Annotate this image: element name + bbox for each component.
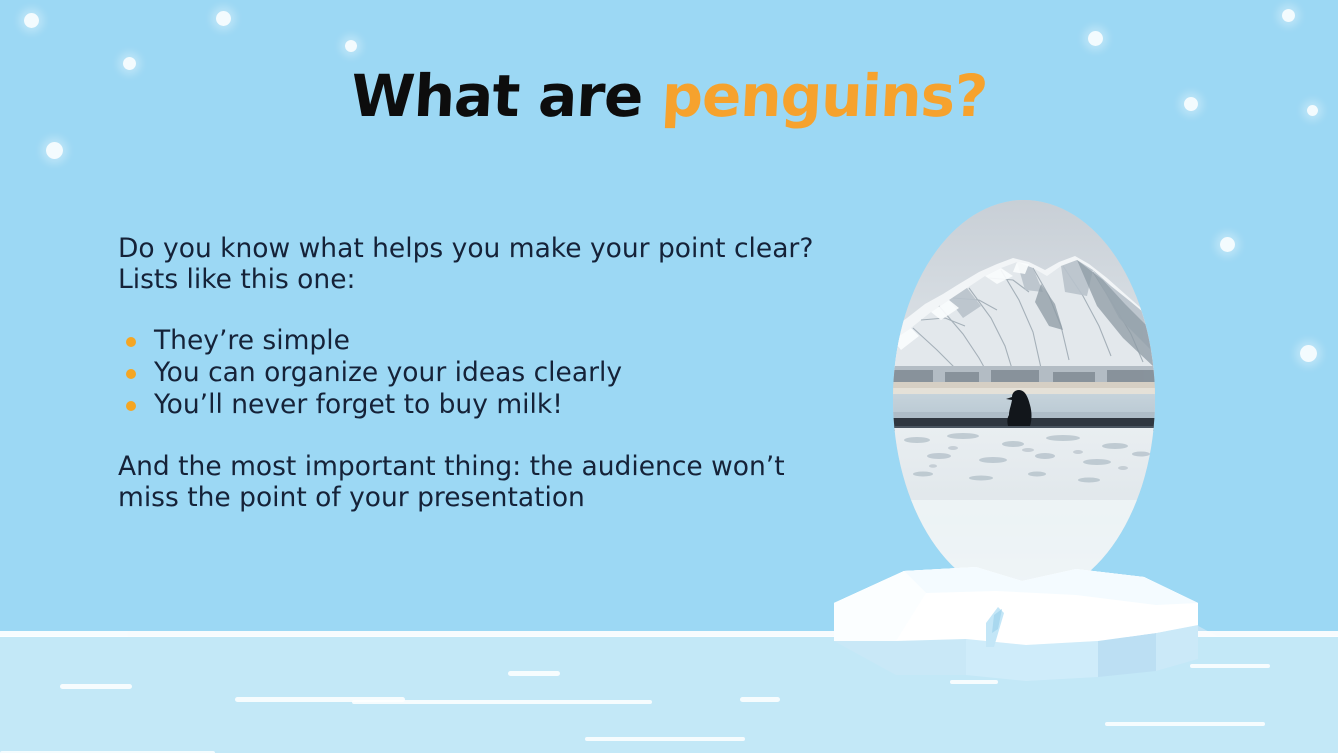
list-item: They’re simple bbox=[118, 325, 818, 356]
presentation-slide: What are penguins? Do you know what help… bbox=[0, 0, 1338, 753]
bullet-dot-icon bbox=[126, 337, 136, 347]
title-text-primary: What are bbox=[349, 62, 663, 130]
snow-dot-icon bbox=[1088, 31, 1103, 46]
penguin-photo-illustration bbox=[893, 200, 1155, 598]
spacer bbox=[118, 421, 818, 451]
list-item: You’ll never forget to buy milk! bbox=[118, 389, 818, 420]
ripple-line bbox=[352, 700, 652, 704]
ripple-line bbox=[740, 697, 780, 702]
spacer bbox=[118, 295, 818, 325]
benefit-bullet-list: They’re simple You can organize your ide… bbox=[118, 325, 818, 420]
snow-dot-icon bbox=[24, 13, 39, 28]
iceberg-waterline-illustration bbox=[826, 555, 1226, 685]
intro-line-2: Lists like this one: bbox=[118, 264, 818, 295]
slide-title: What are penguins? bbox=[0, 62, 1338, 130]
snow-dot-icon bbox=[1300, 345, 1317, 362]
bullet-dot-icon bbox=[126, 401, 136, 411]
closing-line-1: And the most important thing: the audien… bbox=[118, 451, 818, 482]
list-item-label: You can organize your ideas clearly bbox=[154, 357, 622, 388]
list-item-label: They’re simple bbox=[154, 325, 350, 356]
bullet-dot-icon bbox=[126, 369, 136, 379]
ripple-line bbox=[585, 737, 745, 741]
ripple-line bbox=[60, 684, 132, 689]
snow-dot-icon bbox=[1220, 237, 1235, 252]
list-item-label: You’ll never forget to buy milk! bbox=[154, 389, 563, 420]
ripple-line bbox=[1105, 722, 1265, 726]
list-item: You can organize your ideas clearly bbox=[118, 357, 818, 388]
penguin-photo-oval bbox=[893, 200, 1155, 598]
intro-line-1: Do you know what helps you make your poi… bbox=[118, 233, 818, 264]
closing-line-2: miss the point of your presentation bbox=[118, 482, 818, 513]
snow-dot-icon bbox=[46, 142, 63, 159]
iceberg-waterline-block bbox=[826, 555, 1226, 685]
slide-body-content: Do you know what helps you make your poi… bbox=[118, 233, 818, 513]
ripple-line bbox=[508, 671, 560, 676]
snow-dot-icon bbox=[345, 40, 357, 52]
title-text-accent: penguins? bbox=[660, 62, 989, 130]
snow-dot-icon bbox=[216, 11, 231, 26]
snow-dot-icon bbox=[1282, 9, 1295, 22]
